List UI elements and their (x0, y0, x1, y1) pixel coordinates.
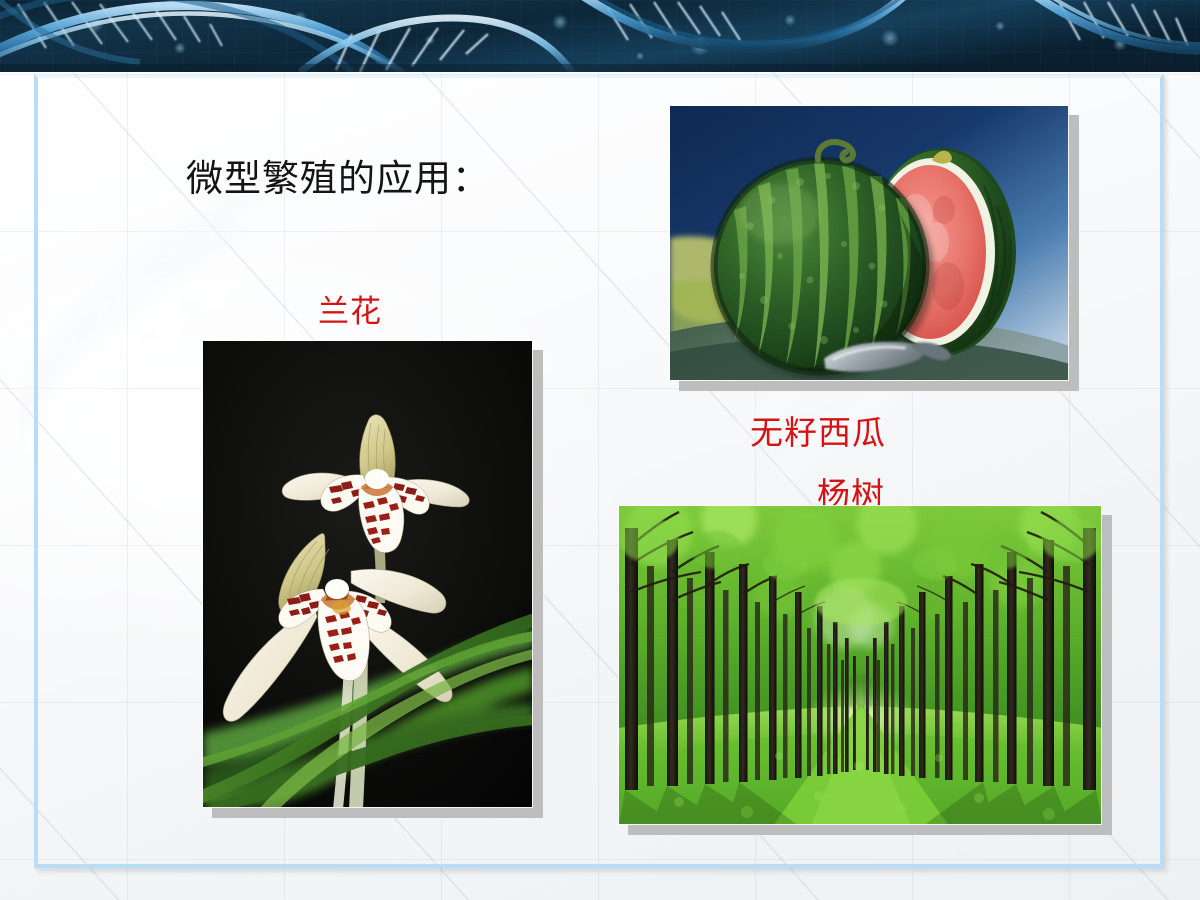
page-title: 微型繁殖的应用： (186, 157, 490, 201)
seedless-watermelon-photo[interactable] (669, 105, 1069, 381)
orchid-image (202, 340, 533, 808)
poplar-forest-photo[interactable] (618, 505, 1102, 825)
dna-helix-banner (0, 0, 1200, 72)
poplar-image (618, 505, 1102, 825)
watermelon-image (669, 105, 1069, 381)
caption-orchid: 兰花 (318, 286, 382, 331)
caption-watermelon: 无籽西瓜 (750, 406, 886, 454)
slide-canvas: 微型繁殖的应用： (0, 0, 1200, 900)
orchid-photo[interactable] (202, 340, 533, 808)
